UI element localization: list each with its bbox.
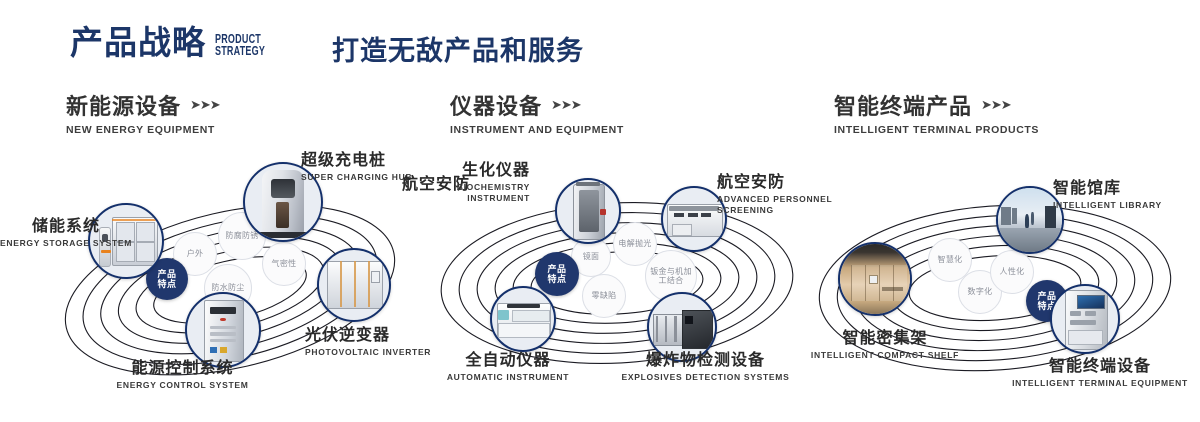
panel-seam — [665, 316, 668, 341]
photovoltaic-inverter-photo — [319, 250, 389, 320]
node-photovoltaic-inverter[interactable] — [317, 248, 391, 322]
label-intelligent-library: 智能馆库 INTELLIGENT LIBRARY — [1053, 180, 1162, 211]
button-row — [210, 326, 236, 330]
page-title: 产品战略 — [70, 26, 206, 59]
personnel-screening-machine-photo — [663, 188, 725, 250]
machine-vent — [701, 213, 711, 217]
shelf-panel — [879, 265, 893, 301]
label-explosives-detection-systems: 爆炸物检测设备 EXPLOSIVES DETECTION SYSTEMS — [608, 352, 803, 383]
shelf-panel — [893, 265, 907, 301]
section-title-intelligent-terminal: 智能终端产品➤➤➤ INTELLIGENT TERMINAL PRODUCTS — [834, 96, 1039, 136]
section-title-en: INTELLIGENT TERMINAL PRODUCTS — [834, 124, 1039, 136]
section-title-en: NEW ENERGY EQUIPMENT — [66, 124, 220, 136]
inverter-seam — [354, 261, 356, 307]
machine-header — [507, 304, 540, 308]
teal-panel — [498, 310, 509, 320]
product-strategy-infographic: 产品战略 PRODUCT STRATEGY 打造无敌产品和服务 新能源设备➤➤➤… — [0, 0, 1200, 422]
cabinet-door — [136, 242, 155, 261]
explosives-detection-system-photo — [649, 294, 715, 360]
label-intelligent-compact-shelf: 智能密集架 INTELLIGENT COMPACT SHELF — [805, 330, 965, 361]
label-photovoltaic-inverter: 光伏逆变器 PHOTOVOLTAIC INVERTER — [305, 327, 431, 358]
chevron-right-icon: ➤➤➤ — [190, 97, 220, 113]
kiosk-slot — [1085, 311, 1096, 316]
machine-vent — [674, 213, 684, 217]
node-energy-control-system[interactable] — [185, 292, 261, 368]
section-title-cn: 仪器设备 — [450, 96, 542, 118]
kiosk-tray — [1068, 330, 1103, 345]
chevron-right-icon: ➤➤➤ — [551, 97, 581, 113]
section-title-instrument: 仪器设备➤➤➤ INSTRUMENT AND EQUIPMENT — [450, 96, 624, 136]
section-title-en: INSTRUMENT AND EQUIPMENT — [450, 124, 624, 136]
kiosk-slot — [1070, 320, 1095, 325]
section-title-cn: 新能源设备 — [66, 96, 181, 118]
node-automatic-instrument[interactable] — [490, 286, 556, 352]
feature-bubble: 气密性 — [262, 242, 306, 286]
section-title-new-energy: 新能源设备➤➤➤ NEW ENERGY EQUIPMENT — [66, 96, 220, 136]
label-intelligent-terminal-equipment: 智能终端设备 INTELLIGENT TERMINAL EQUIPMENT — [1000, 358, 1200, 389]
accent-stripe — [112, 219, 157, 221]
intelligent-terminal-kiosk-photo — [1052, 286, 1118, 352]
library-person — [1025, 214, 1029, 228]
feature-bubble: 人性化 — [990, 250, 1034, 294]
node-intelligent-terminal-equipment[interactable] — [1050, 284, 1120, 354]
node-intelligent-compact-shelf[interactable] — [838, 242, 912, 316]
scanner-indicator — [600, 209, 606, 215]
shelf-control-panel — [869, 275, 878, 285]
page-slogan: 打造无敌产品和服务 — [332, 38, 584, 65]
button-row — [210, 339, 236, 343]
label-biochemistry-instrument: 生化仪器 BIOCHEMISTRY INSTRUMENT — [430, 162, 530, 204]
node-biochemistry-instrument[interactable] — [555, 178, 621, 244]
shelf-panel — [851, 265, 865, 301]
shelf-rail — [882, 287, 903, 291]
control-display — [210, 307, 236, 314]
page-header: 产品战略 PRODUCT STRATEGY — [70, 26, 285, 59]
library-floor — [998, 228, 1062, 252]
library-shelf — [1012, 208, 1017, 223]
inverter-seam — [340, 261, 342, 307]
library-shelf — [1001, 207, 1011, 225]
instrument-face — [512, 310, 550, 322]
inverter-seam — [368, 261, 370, 307]
charge-post-base — [253, 232, 314, 239]
tunnel-opening — [685, 316, 693, 324]
inverter-display — [371, 271, 380, 283]
chevron-right-icon: ➤➤➤ — [981, 97, 1011, 113]
machine-top-panel — [669, 206, 719, 211]
kiosk-slot — [1070, 311, 1081, 316]
kiosk-screen — [1077, 295, 1105, 309]
page-title-english: PRODUCT STRATEGY — [215, 33, 265, 57]
scanner-top — [576, 182, 601, 186]
panel-seam — [674, 316, 677, 341]
feature-bubble: 零缺陷 — [582, 274, 626, 318]
instrument-cabinet — [498, 323, 550, 339]
label-super-charging-hub: 超级充电桩 SUPER CHARGING HUB — [301, 152, 412, 183]
label-energy-storage-system: 储能系统 ENERGY STORAGE SYSTEM — [0, 218, 100, 249]
panel-badge — [220, 347, 227, 353]
button-row — [210, 332, 236, 336]
page-title-english-line2: STRATEGY — [215, 45, 265, 57]
status-indicator — [101, 250, 111, 254]
panel-badge — [210, 347, 217, 353]
energy-control-cabinet-photo — [187, 294, 259, 366]
label-automatic-instrument: 全自动仪器 AUTOMATIC INSTRUMENT — [428, 352, 588, 383]
automatic-instrument-photo — [492, 288, 554, 350]
panel-seam — [656, 316, 659, 341]
charge-post-body — [262, 170, 305, 234]
intelligent-compact-shelf-photo — [840, 244, 910, 314]
machine-door — [672, 224, 693, 236]
label-energy-control-system: 能源控制系统 ENERGY CONTROL SYSTEM — [75, 360, 290, 391]
machine-vent — [688, 213, 698, 217]
biochemistry-scanner-photo — [557, 180, 619, 242]
section-title-cn: 智能终端产品 — [834, 96, 972, 118]
cabinet-door — [136, 222, 155, 241]
